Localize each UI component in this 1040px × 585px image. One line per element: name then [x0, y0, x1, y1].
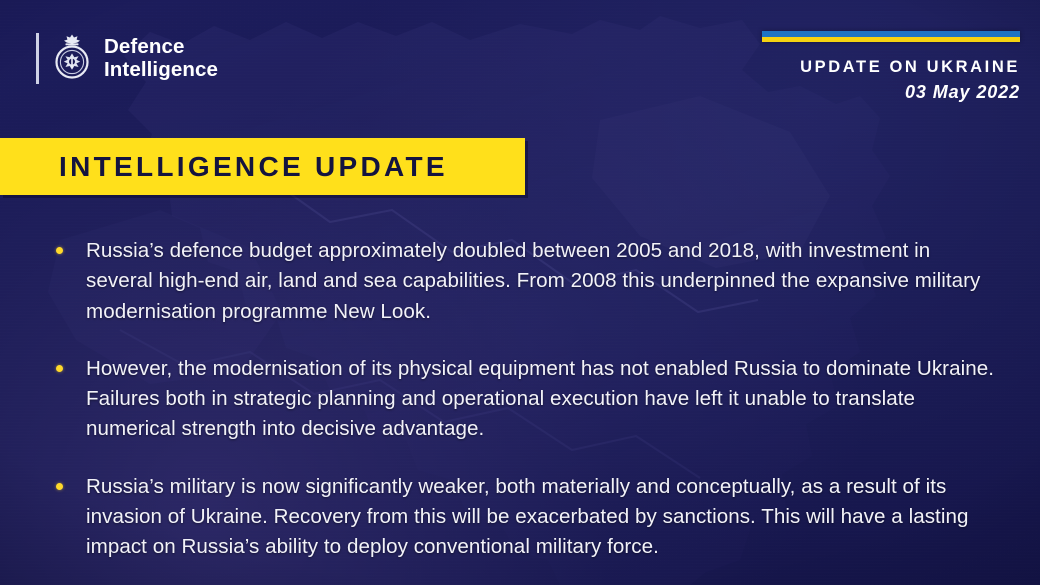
- flag-yellow-stripe: [762, 37, 1020, 43]
- intelligence-update-slide: Defence Intelligence UPDATE ON UKRAINE 0…: [0, 0, 1040, 585]
- branding-line-2: Intelligence: [104, 58, 218, 81]
- update-header-date: 03 May 2022: [762, 82, 1020, 103]
- bullet-text: Russia’s defence budget approximately do…: [86, 236, 996, 327]
- page-title: INTELLIGENCE UPDATE: [0, 151, 448, 183]
- update-header-title: UPDATE ON UKRAINE: [762, 57, 1020, 78]
- bullet-dot-icon: [56, 247, 63, 254]
- bullet-dot-icon: [56, 483, 63, 490]
- list-item: Russia’s defence budget approximately do…: [56, 236, 996, 327]
- update-header: UPDATE ON UKRAINE 03 May 2022: [762, 31, 1020, 103]
- list-item: However, the modernisation of its physic…: [56, 354, 996, 445]
- ukraine-flag-bar-icon: [762, 31, 1020, 42]
- defence-intelligence-branding: Defence Intelligence: [36, 30, 218, 86]
- bullet-dot-icon: [56, 365, 63, 372]
- bullet-text: However, the modernisation of its physic…: [86, 354, 996, 445]
- list-item: Russia’s military is now significantly w…: [56, 472, 996, 563]
- mod-royal-crest-icon: [51, 33, 93, 83]
- bullet-text: Russia’s military is now significantly w…: [86, 472, 996, 563]
- branding-line-1: Defence: [104, 35, 218, 58]
- vertical-rule-icon: [36, 33, 39, 84]
- bullet-list: Russia’s defence budget approximately do…: [56, 236, 996, 562]
- intelligence-update-banner: INTELLIGENCE UPDATE: [0, 138, 525, 195]
- branding-wordmark: Defence Intelligence: [104, 35, 218, 82]
